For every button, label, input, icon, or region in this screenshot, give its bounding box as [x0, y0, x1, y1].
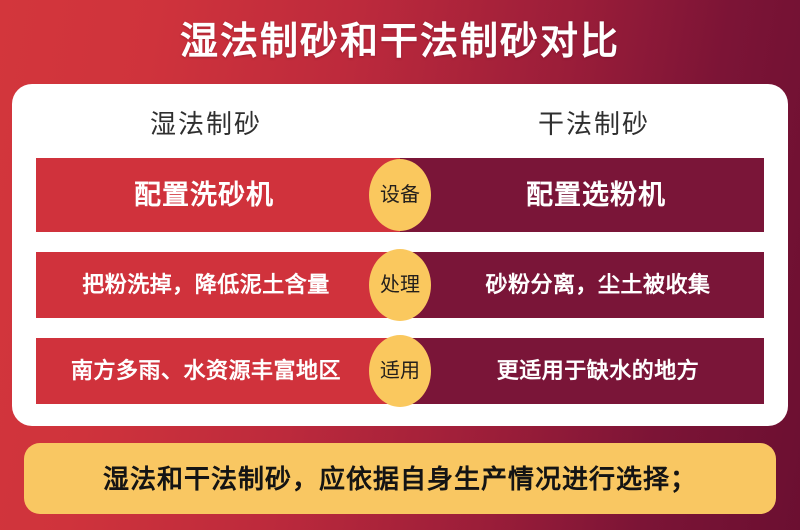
- row-cell-left: 配置洗砂机: [36, 158, 400, 232]
- row-badge-label: 适用: [380, 361, 420, 381]
- row-cell-right: 更适用于缺水的地方: [400, 338, 764, 404]
- comparison-row: 南方多雨、水资源丰富地区 更适用于缺水的地方 适用: [12, 338, 788, 404]
- row-cell-right: 配置选粉机: [400, 158, 764, 232]
- row-badge: 适用: [369, 335, 431, 407]
- infographic-poster: 湿法制砂和干法制砂对比 湿法制砂 干法制砂 配置洗砂机 配置选粉机 设备: [0, 0, 800, 530]
- comparison-row: 配置洗砂机 配置选粉机 设备: [12, 158, 788, 232]
- row-badge: 处理: [369, 249, 431, 321]
- row-cell-right: 砂粉分离，尘土被收集: [400, 252, 764, 318]
- column-header-wet: 湿法制砂: [12, 100, 400, 148]
- column-headers: 湿法制砂 干法制砂: [12, 100, 788, 148]
- row-cell-left-text: 把粉洗掉，降低泥土含量: [82, 274, 330, 296]
- footer-note-text: 湿法和干法制砂，应依据自身生产情况进行选择；: [103, 466, 697, 492]
- row-cell-right-text: 砂粉分离，尘土被收集: [485, 274, 710, 296]
- row-badge-label: 处理: [380, 275, 420, 295]
- comparison-card: 湿法制砂 干法制砂 配置洗砂机 配置选粉机 设备: [12, 84, 788, 426]
- comparison-row: 把粉洗掉，降低泥土含量 砂粉分离，尘土被收集 处理: [12, 252, 788, 318]
- row-cell-left-text: 南方多雨、水资源丰富地区: [71, 360, 341, 382]
- title-bar: 湿法制砂和干法制砂对比: [0, 0, 800, 84]
- row-cell-left-text: 配置洗砂机: [134, 182, 274, 209]
- column-header-dry: 干法制砂: [400, 100, 788, 148]
- page-title: 湿法制砂和干法制砂对比: [180, 23, 620, 61]
- row-cell-left: 把粉洗掉，降低泥土含量: [36, 252, 400, 318]
- row-cell-right-text: 更适用于缺水的地方: [497, 360, 700, 382]
- comparison-rows: 配置洗砂机 配置选粉机 设备 把粉洗掉，降低泥土含量 砂粉分离，尘土被收集: [12, 158, 788, 404]
- row-badge-label: 设备: [380, 185, 420, 205]
- row-cell-left: 南方多雨、水资源丰富地区: [36, 338, 400, 404]
- row-badge: 设备: [369, 159, 431, 231]
- footer-note-banner: 湿法和干法制砂，应依据自身生产情况进行选择；: [24, 443, 776, 514]
- row-cell-right-text: 配置选粉机: [526, 182, 666, 209]
